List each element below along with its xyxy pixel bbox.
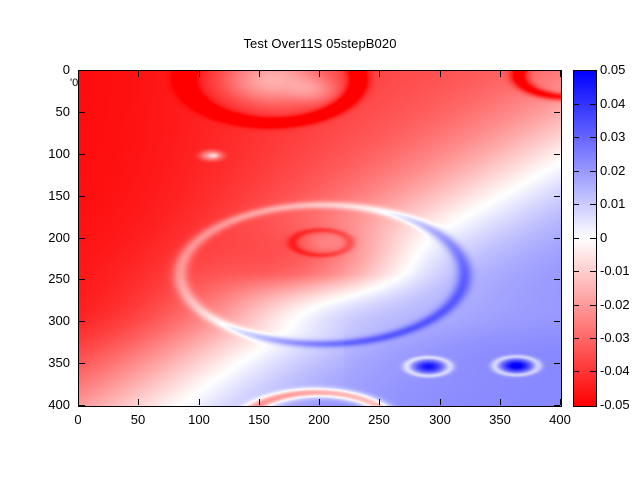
colorbar-label: -0.05: [600, 397, 630, 412]
colorbar-tick: [590, 104, 596, 105]
heatmap-plot-area: [78, 70, 562, 407]
colorbar-tick: [590, 204, 596, 205]
colorbar-label: -0.01: [600, 263, 630, 278]
colorbar-label: 0.02: [600, 163, 625, 178]
y-axis-tick: [79, 238, 85, 239]
colorbar-tick: [573, 371, 579, 372]
x-axis-tick: [560, 71, 561, 77]
colorbar-label: 0.04: [600, 96, 625, 111]
colorbar-tick: [573, 338, 579, 339]
x-axis-tick: [319, 71, 320, 77]
x-axis-tick: [440, 71, 441, 77]
y-axis-tick: [554, 154, 560, 155]
y-axis-tick: [554, 321, 560, 322]
x-axis-tick: [319, 399, 320, 405]
colorbar-tick: [573, 271, 579, 272]
y-axis-tick: [79, 154, 85, 155]
y-axis-tick: [554, 363, 560, 364]
page-title: Test Over11S 05stepB020: [0, 36, 640, 51]
x-axis-label: 400: [538, 412, 582, 427]
y-axis-tick: [554, 279, 560, 280]
y-axis-label: 50: [28, 104, 70, 119]
y-axis-tick: [554, 70, 560, 71]
colorbar-label: -0.03: [600, 330, 630, 345]
y-axis-tick: [554, 238, 560, 239]
colorbar-tick: [573, 238, 579, 239]
x-axis-tick: [199, 399, 200, 405]
y-axis-tick: [79, 321, 85, 322]
colorbar-tick: [590, 305, 596, 306]
x-axis-tick: [440, 399, 441, 405]
colorbar-tick: [573, 204, 579, 205]
colorbar-label: -0.02: [600, 297, 630, 312]
x-axis-tick: [500, 71, 501, 77]
x-axis-tick: [379, 71, 380, 77]
x-axis-label: 250: [357, 412, 401, 427]
x-axis-tick: [500, 399, 501, 405]
x-axis-tick: [199, 71, 200, 77]
y-axis-label: 400: [28, 397, 70, 412]
colorbar-tick: [590, 238, 596, 239]
colorbar-tick: [573, 305, 579, 306]
y-axis-tick: [79, 363, 85, 364]
x-axis-tick: [560, 399, 561, 405]
x-axis-tick: [78, 71, 79, 77]
y-axis-tick: [79, 405, 85, 406]
x-axis-tick: [259, 71, 260, 77]
y-axis-label: 100: [28, 146, 70, 161]
y-axis-label: 350: [28, 355, 70, 370]
colorbar-tick: [590, 371, 596, 372]
x-axis-label: 150: [237, 412, 281, 427]
x-axis-tick: [138, 71, 139, 77]
y-axis-label: 150: [28, 188, 70, 203]
x-axis-label: 300: [418, 412, 462, 427]
colorbar-label: -0.04: [600, 363, 630, 378]
x-axis-label: 100: [177, 412, 221, 427]
y-axis-tick: [79, 279, 85, 280]
x-axis-tick: [259, 399, 260, 405]
x-axis-label: 0: [56, 412, 100, 427]
colorbar-tick: [590, 137, 596, 138]
x-axis-label: 50: [116, 412, 160, 427]
x-axis-label: 350: [478, 412, 522, 427]
y-axis-tick: [79, 196, 85, 197]
y-axis-tick: [554, 405, 560, 406]
colorbar-tick: [573, 137, 579, 138]
y-axis-label: 300: [28, 313, 70, 328]
colorbar-tick: [573, 104, 579, 105]
x-axis-label: 200: [297, 412, 341, 427]
colorbar-label: 0.05: [600, 62, 625, 77]
y-axis-tick: [79, 112, 85, 113]
colorbar-label: 0.01: [600, 196, 625, 211]
colorbar-tick: [590, 271, 596, 272]
y-axis-tick: [79, 70, 85, 71]
y-axis-label: 0: [28, 62, 70, 77]
y-axis-label: 250: [28, 271, 70, 286]
colorbar-label: 0: [600, 230, 607, 245]
y-axis-label: 200: [28, 230, 70, 245]
colorbar-tick: [590, 171, 596, 172]
colorbar-tick: [573, 171, 579, 172]
x-axis-tick: [138, 399, 139, 405]
y-axis-tick: [554, 196, 560, 197]
y-axis-tick: [554, 112, 560, 113]
x-axis-tick: [379, 399, 380, 405]
colorbar-tick: [590, 338, 596, 339]
colorbar-label: 0.03: [600, 129, 625, 144]
heatmap-field: [79, 71, 561, 406]
